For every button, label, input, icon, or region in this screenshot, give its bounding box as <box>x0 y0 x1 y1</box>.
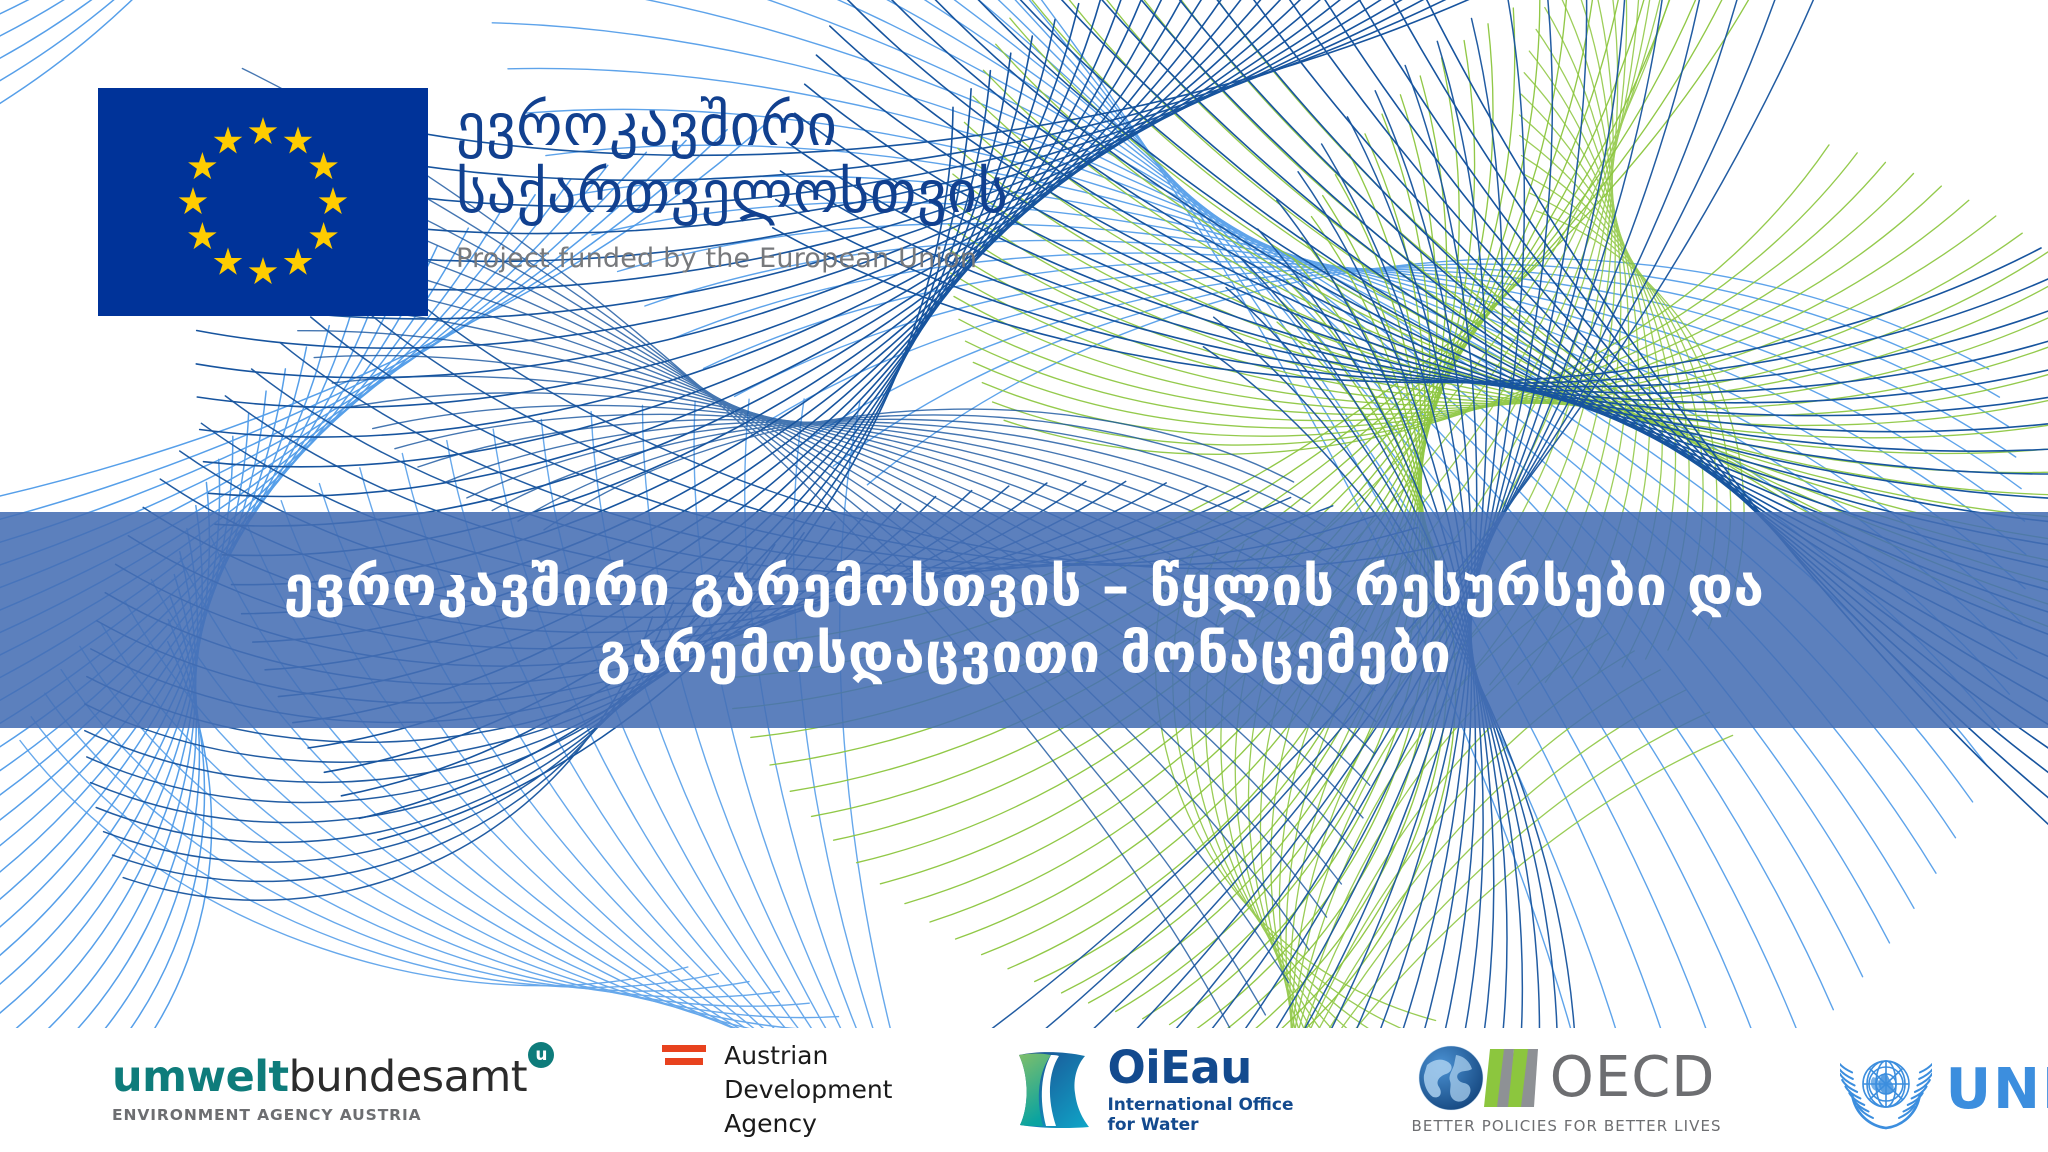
ada-line-1: Austrian <box>724 1039 892 1073</box>
unece-wordmark: UNECE <box>1946 1062 2048 1118</box>
slide-title: ევროკავშირი გარემოსთვის – წყლის რესურსებ… <box>0 512 2048 728</box>
eu-logo-line-2: საქართველოსთვის <box>456 159 1008 226</box>
umweltbundesamt-subtitle: ENVIRONMENT AGENCY AUSTRIA <box>112 1106 422 1124</box>
eu-logo-tagline: Project funded by the European Union <box>456 243 1008 274</box>
ada-line-2: Development <box>724 1073 892 1107</box>
logo-oieau: OiEau International Office for Water <box>1017 1045 1293 1135</box>
eu-logo-line-1: ევროკავშირი <box>456 92 1008 159</box>
oecd-globe-icon <box>1418 1045 1484 1111</box>
oieau-wordmark: OiEau <box>1107 1045 1293 1090</box>
umweltbundesamt-part2: bundesamt <box>289 1052 528 1102</box>
title-line-2: გარემოსდაცვითი მონაცემები <box>597 620 1452 687</box>
un-emblem-icon <box>1840 1044 1932 1136</box>
title-line-1: ევროკავშირი გარემოსთვის – წყლის რესურსებ… <box>284 553 1765 620</box>
oieau-text: OiEau International Office for Water <box>1107 1045 1293 1135</box>
austrian-flag-icon <box>662 1045 706 1071</box>
eu-logo-text: ევროკავშირი საქართველოსთვის Project fund… <box>456 88 1008 274</box>
oecd-chevrons-icon <box>1484 1045 1542 1111</box>
partner-logo-strip: umweltbundesamtu ENVIRONMENT AGENCY AUST… <box>0 1028 2048 1152</box>
umweltbundesamt-part1: umwelt <box>112 1052 289 1102</box>
umweltbundesamt-superscript-icon: u <box>528 1042 554 1068</box>
logo-umweltbundesamt: umweltbundesamtu ENVIRONMENT AGENCY AUST… <box>112 1056 554 1124</box>
eu-funding-logo: ევროკავშირი საქართველოსთვის Project fund… <box>98 88 1008 316</box>
oieau-subtitle-line-2: for Water <box>1107 1115 1293 1135</box>
logo-oecd: OECD BETTER POLICIES FOR BETTER LIVES <box>1412 1045 1722 1135</box>
umweltbundesamt-wordmark: umweltbundesamtu <box>112 1056 554 1099</box>
oecd-tagline: BETTER POLICIES FOR BETTER LIVES <box>1412 1117 1722 1135</box>
presentation-slide: ევროკავშირი საქართველოსთვის Project fund… <box>0 0 2048 1152</box>
oieau-subtitle-line-1: International Office <box>1107 1095 1293 1115</box>
logo-austrian-development-agency: Austrian Development Agency <box>662 1039 892 1141</box>
logo-unece: UNECE <box>1840 1044 2048 1136</box>
oecd-mark-row: OECD <box>1418 1045 1716 1111</box>
oecd-wordmark: OECD <box>1550 1050 1716 1106</box>
ada-line-3: Agency <box>724 1107 892 1141</box>
ada-wordmark: Austrian Development Agency <box>724 1039 892 1141</box>
eu-flag-icon <box>98 88 428 316</box>
oieau-water-mark-icon <box>1017 1049 1093 1131</box>
